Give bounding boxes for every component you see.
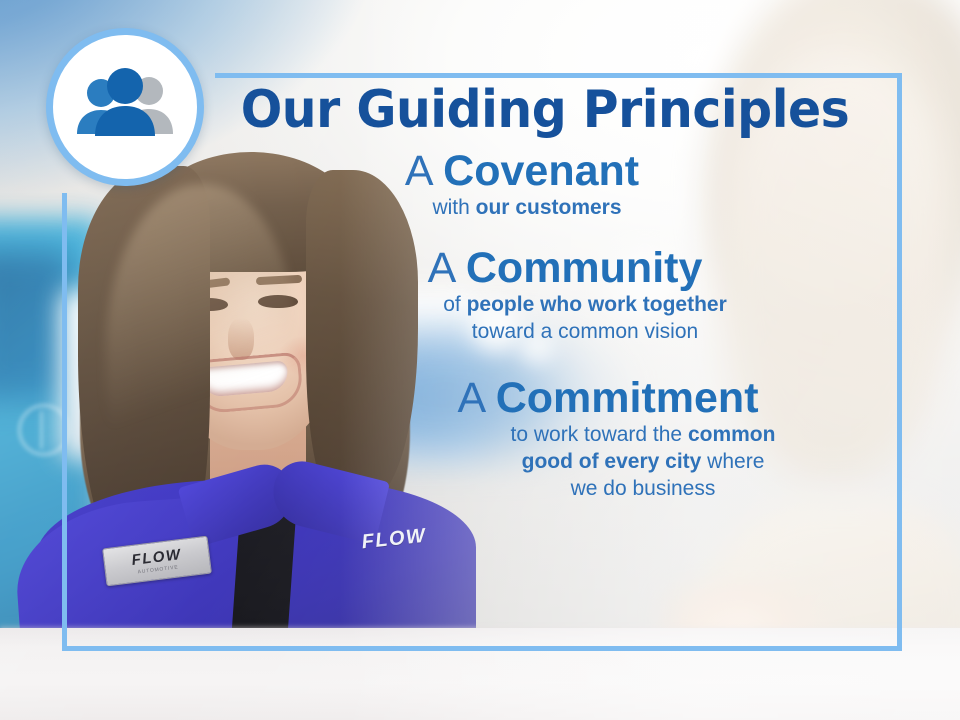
principle-subtext-line: of people who work together	[280, 292, 890, 319]
people-group-icon	[73, 68, 177, 146]
subtext-span: with	[432, 196, 475, 219]
frame-border-left	[62, 193, 67, 651]
principle-article: A	[457, 374, 495, 422]
principle-covenant: A Covenant with our customers	[200, 147, 890, 222]
principle-subtext-line: toward a common vision	[280, 319, 890, 346]
principle-subtext-line: good of every city where	[396, 449, 890, 476]
subtext-span: of	[443, 293, 466, 316]
subtext-span-bold: good of every city	[522, 450, 702, 473]
principle-subtext-line: to work toward the common	[396, 422, 890, 449]
banner-canvas: FLOW AUTOMOTIVE FLOW	[0, 0, 960, 720]
principle-keyword: Covenant	[443, 147, 639, 195]
principle-community: A Community of people who work together …	[200, 244, 890, 346]
principle-subtext: of people who work together toward a com…	[200, 292, 890, 346]
subtext-span-bold: our customers	[476, 196, 622, 219]
principle-article: A	[405, 147, 443, 195]
principle-heading: A Commitment	[200, 374, 890, 422]
principle-commitment: A Commitment to work toward the common g…	[200, 374, 890, 503]
principle-article: A	[428, 244, 466, 292]
principle-subtext-line: we do business	[396, 476, 890, 503]
page-title: Our Guiding Principles	[221, 84, 870, 137]
principle-keyword: Community	[466, 244, 703, 292]
principle-subtext: with our customers	[200, 195, 890, 222]
subtext-span-bold: people who work together	[467, 293, 727, 316]
frame-border-bottom	[62, 646, 902, 651]
subtext-span: to work toward the	[511, 423, 688, 446]
principle-subtext-line: with our customers	[200, 195, 854, 222]
principle-keyword: Commitment	[496, 374, 759, 422]
principle-heading: A Community	[200, 244, 890, 292]
subtext-span-bold: common	[688, 423, 776, 446]
principle-subtext: to work toward the common good of every …	[200, 422, 890, 503]
frame-border-right	[897, 73, 902, 651]
desk-surface	[0, 628, 960, 720]
flow-chest-wordmark: FLOW	[361, 524, 428, 554]
subtext-span: where	[701, 450, 764, 473]
copy-block: Our Guiding Principles A Covenant with o…	[200, 84, 890, 503]
principle-heading: A Covenant	[200, 147, 890, 195]
people-group-badge	[46, 28, 204, 186]
frame-border-top	[215, 73, 902, 78]
